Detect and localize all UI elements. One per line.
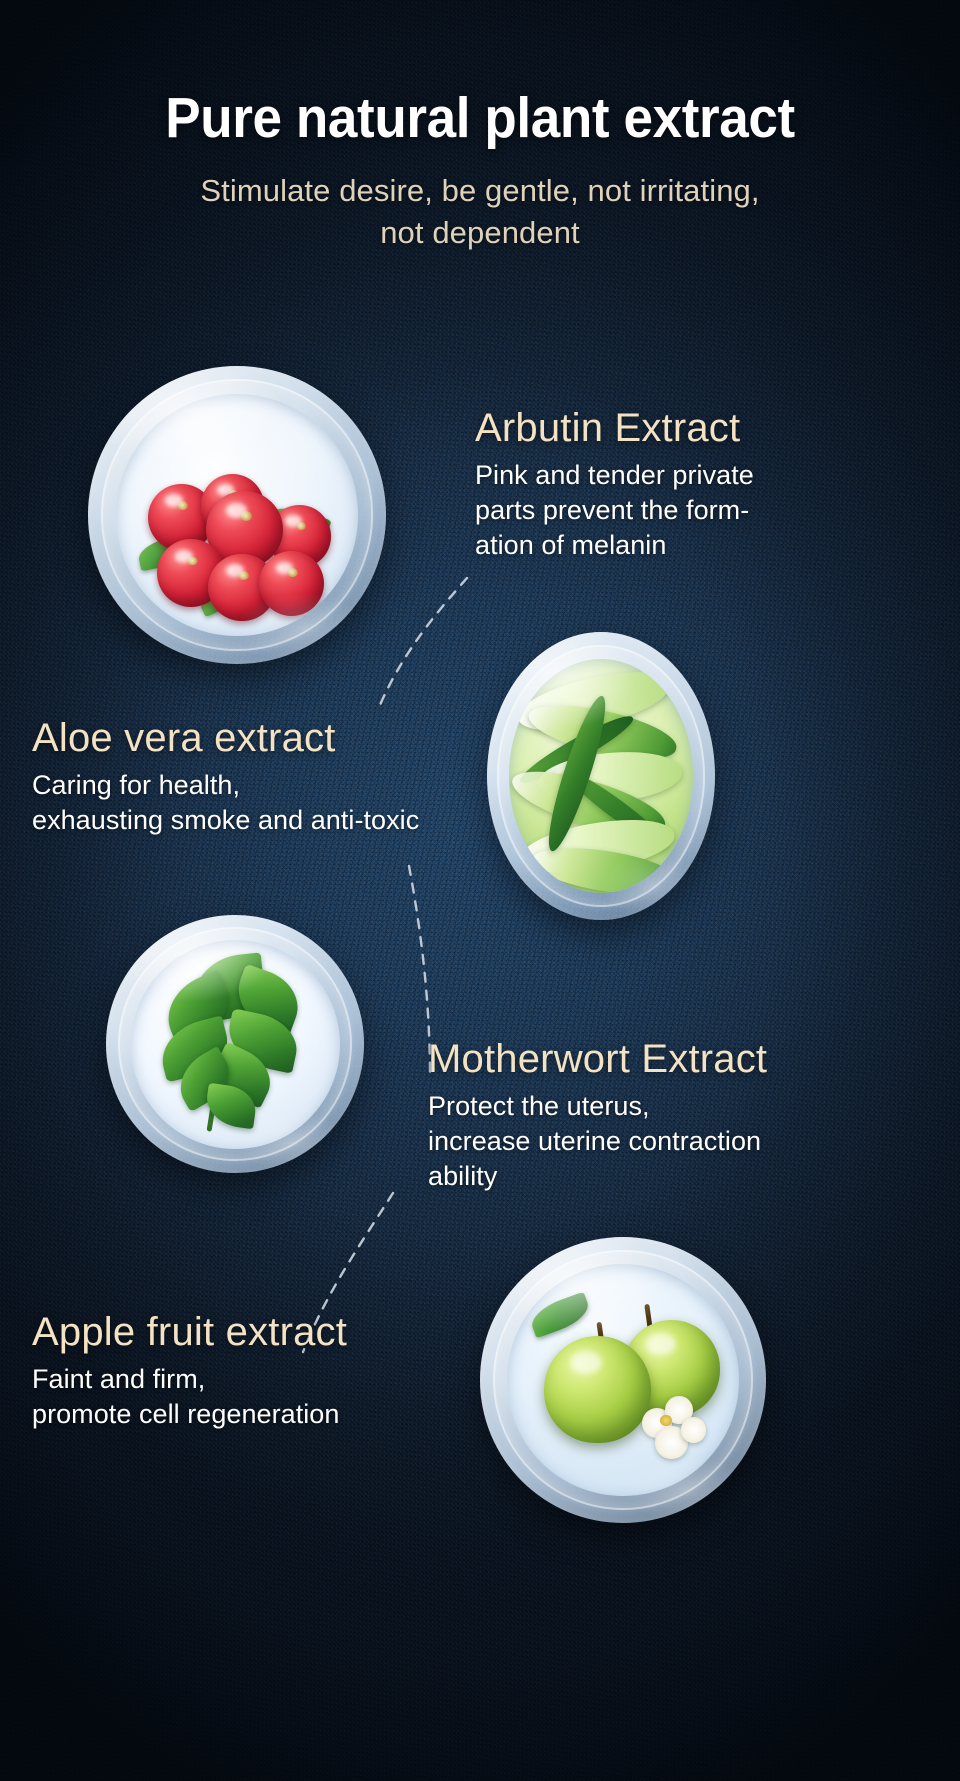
ingredient-heading-arbutin: Arbutin Extract: [475, 406, 935, 451]
jasmine-flower: [681, 1417, 706, 1442]
green-apple: [544, 1336, 651, 1443]
description-line-1: Protect the uterus,: [428, 1089, 928, 1124]
description-line-1: Faint and firm,: [32, 1362, 482, 1397]
ingredient-description-apple: Faint and firm, promote cell regeneratio…: [32, 1362, 482, 1432]
dish-well: [116, 394, 357, 635]
vignette-overlay: [0, 0, 960, 1781]
motherwort-leaf-petri-dish: [106, 915, 364, 1173]
ingredient-block-motherwort: Motherwort Extract Protect the uterus, i…: [428, 1037, 928, 1194]
green-apple-petri-dish: [480, 1237, 766, 1523]
ingredient-description-motherwort: Protect the uterus, increase uterine con…: [428, 1089, 928, 1194]
description-line-3: ation of melanin: [475, 528, 935, 563]
ingredient-block-aloe: Aloe vera extract Caring for health, exh…: [32, 716, 482, 838]
dish-well: [507, 1264, 739, 1496]
header: Pure natural plant extract Stimulate des…: [0, 0, 960, 253]
page-subtitle: Stimulate desire, be gentle, not irritat…: [0, 170, 960, 252]
background: [0, 0, 960, 1781]
ingredient-description-aloe: Caring for health, exhausting smoke and …: [32, 768, 482, 838]
ingredient-block-arbutin: Arbutin Extract Pink and tender private …: [475, 406, 935, 563]
ingredient-block-apple: Apple fruit extract Faint and firm, prom…: [32, 1310, 482, 1432]
aloe-cucumber-petri-dish: [487, 632, 715, 920]
description-line-3: ability: [428, 1159, 928, 1194]
description-line-1: Caring for health,: [32, 768, 482, 803]
cranberry-petri-dish: [88, 366, 386, 664]
dish-well: [131, 940, 340, 1149]
subtitle-line-1: Stimulate desire, be gentle, not irritat…: [0, 170, 960, 211]
ingredient-description-arbutin: Pink and tender private parts prevent th…: [475, 458, 935, 563]
flower-center: [660, 1415, 672, 1427]
subtitle-line-2: not dependent: [0, 212, 960, 253]
description-line-1: Pink and tender private: [475, 458, 935, 493]
cranberry: [259, 551, 324, 616]
ingredient-heading-motherwort: Motherwort Extract: [428, 1037, 928, 1082]
ingredient-heading-apple: Apple fruit extract: [32, 1310, 482, 1355]
description-line-2: increase uterine contraction: [428, 1124, 928, 1159]
description-line-2: exhausting smoke and anti-toxic: [32, 803, 482, 838]
page-title: Pure natural plant extract: [34, 88, 927, 148]
ingredient-heading-aloe: Aloe vera extract: [32, 716, 482, 761]
dish-well: [509, 659, 694, 892]
description-line-2: promote cell regeneration: [32, 1397, 482, 1432]
description-line-2: parts prevent the form-: [475, 493, 935, 528]
